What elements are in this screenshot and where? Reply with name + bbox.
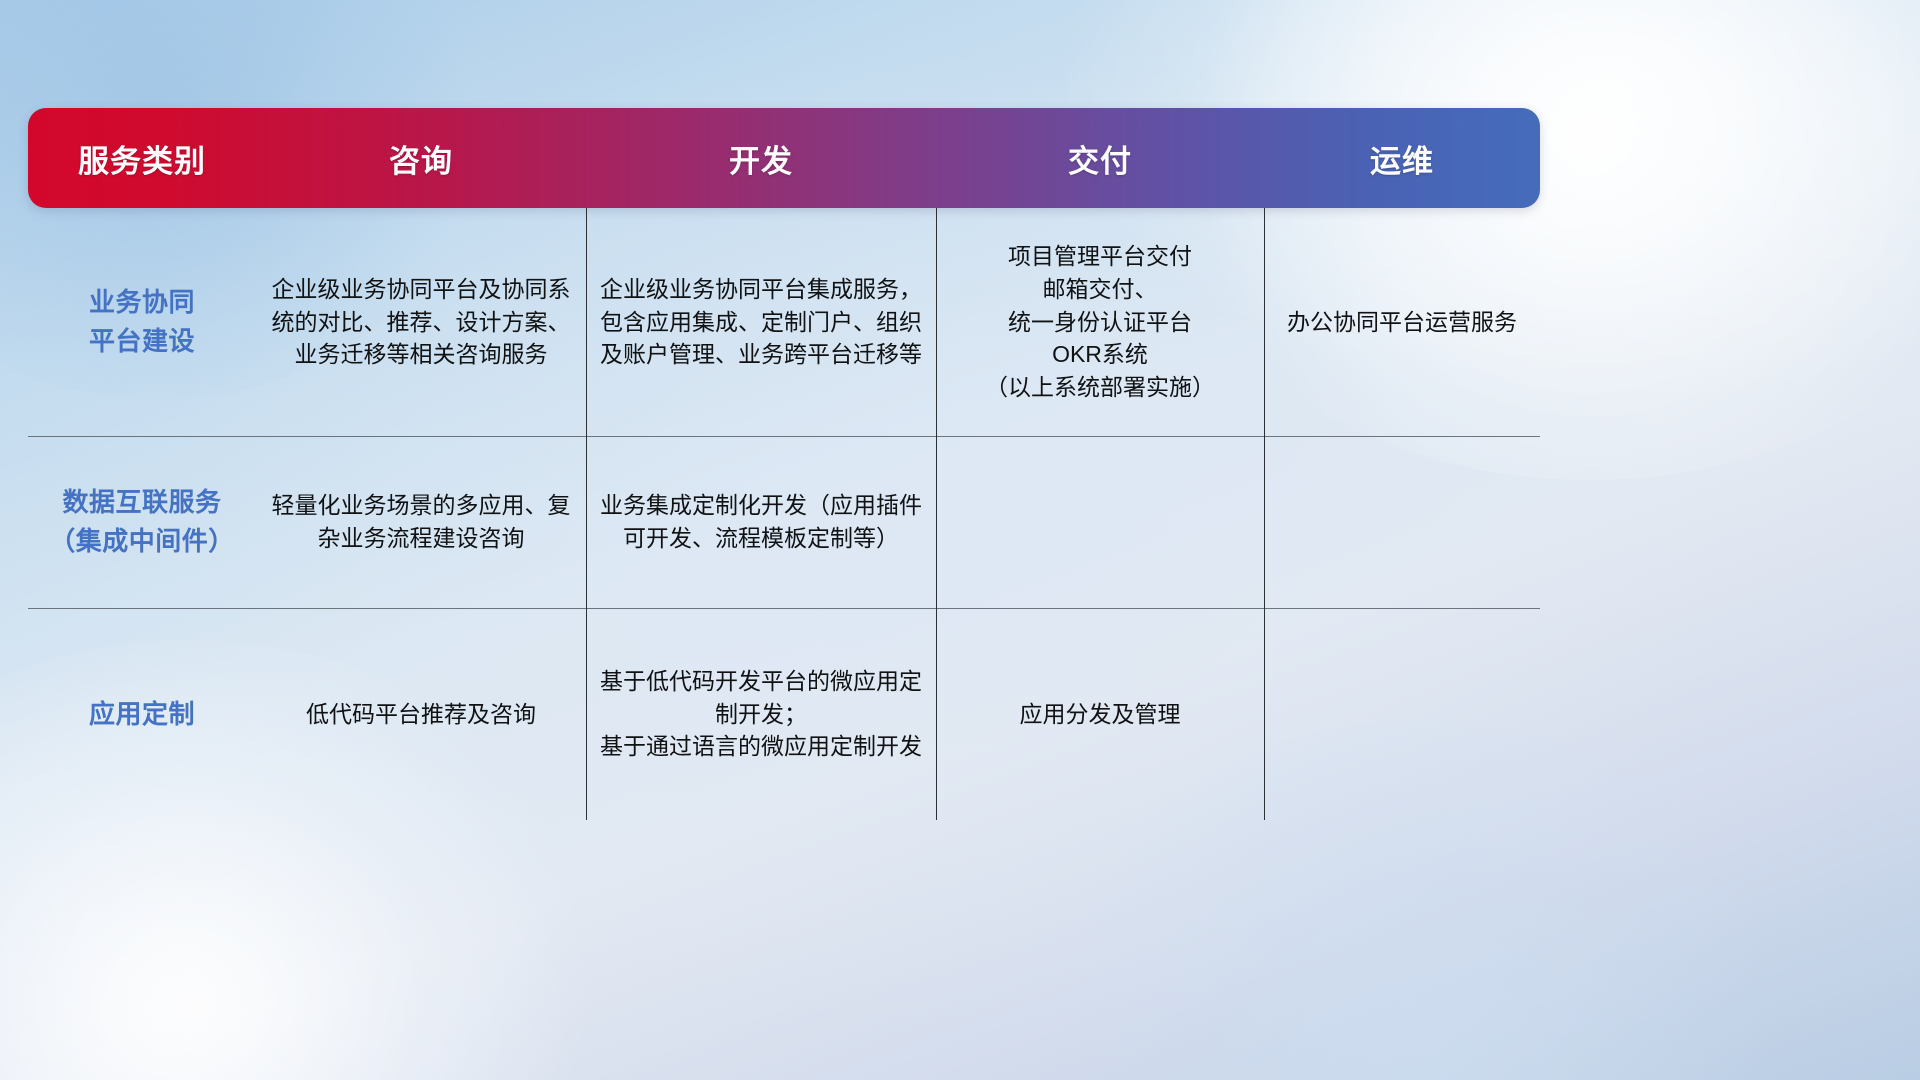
cell-development: 基于低代码开发平台的微应用定 制开发； 基于通过语言的微应用定制开发: [586, 608, 936, 820]
table-row: 数据互联服务 （集成中间件） 轻量化业务场景的多应用、复 杂业务流程建设咨询 业…: [28, 436, 1540, 608]
cell-development: 企业级业务协同平台集成服务， 包含应用集成、定制门户、组织 及账户管理、业务跨平…: [586, 208, 936, 436]
slide-canvas: 服务类别 咨询 开发 交付 运维 业务协同 平台建设 企业级业务协同平台及协同系…: [0, 0, 1920, 1080]
header-development: 开发: [586, 136, 936, 181]
column-divider: [586, 208, 587, 820]
row-category-label: 业务协同 平台建设: [28, 208, 256, 436]
cell-consulting: 企业级业务协同平台及协同系 统的对比、推荐、设计方案、 业务迁移等相关咨询服务: [256, 208, 586, 436]
cell-delivery: 项目管理平台交付 邮箱交付、 统一身份认证平台 OKR系统 （以上系统部署实施）: [936, 208, 1264, 436]
header-service-category: 服务类别: [28, 136, 256, 181]
cell-development: 业务集成定制化开发（应用插件 可开发、流程模板定制等）: [586, 436, 936, 608]
header-delivery: 交付: [936, 136, 1264, 181]
column-divider: [936, 208, 937, 820]
cell-consulting: 低代码平台推荐及咨询: [256, 608, 586, 820]
table-row: 业务协同 平台建设 企业级业务协同平台及协同系 统的对比、推荐、设计方案、 业务…: [28, 208, 1540, 436]
cell-operations: 办公协同平台运营服务: [1264, 208, 1540, 436]
cell-operations: [1264, 608, 1540, 820]
row-category-label: 应用定制: [28, 608, 256, 820]
column-divider: [1264, 208, 1265, 820]
cell-delivery: [936, 436, 1264, 608]
service-matrix-table: 服务类别 咨询 开发 交付 运维 业务协同 平台建设 企业级业务协同平台及协同系…: [28, 108, 1540, 776]
cell-consulting: 轻量化业务场景的多应用、复 杂业务流程建设咨询: [256, 436, 586, 608]
table-header-row: 服务类别 咨询 开发 交付 运维: [28, 108, 1540, 208]
cell-delivery: 应用分发及管理: [936, 608, 1264, 820]
row-category-label: 数据互联服务 （集成中间件）: [28, 436, 256, 608]
table-row: 应用定制 低代码平台推荐及咨询 基于低代码开发平台的微应用定 制开发； 基于通过…: [28, 608, 1540, 820]
cell-operations: [1264, 436, 1540, 608]
header-operations: 运维: [1264, 136, 1540, 181]
table-body: 业务协同 平台建设 企业级业务协同平台及协同系 统的对比、推荐、设计方案、 业务…: [28, 208, 1540, 820]
header-consulting: 咨询: [256, 136, 586, 181]
